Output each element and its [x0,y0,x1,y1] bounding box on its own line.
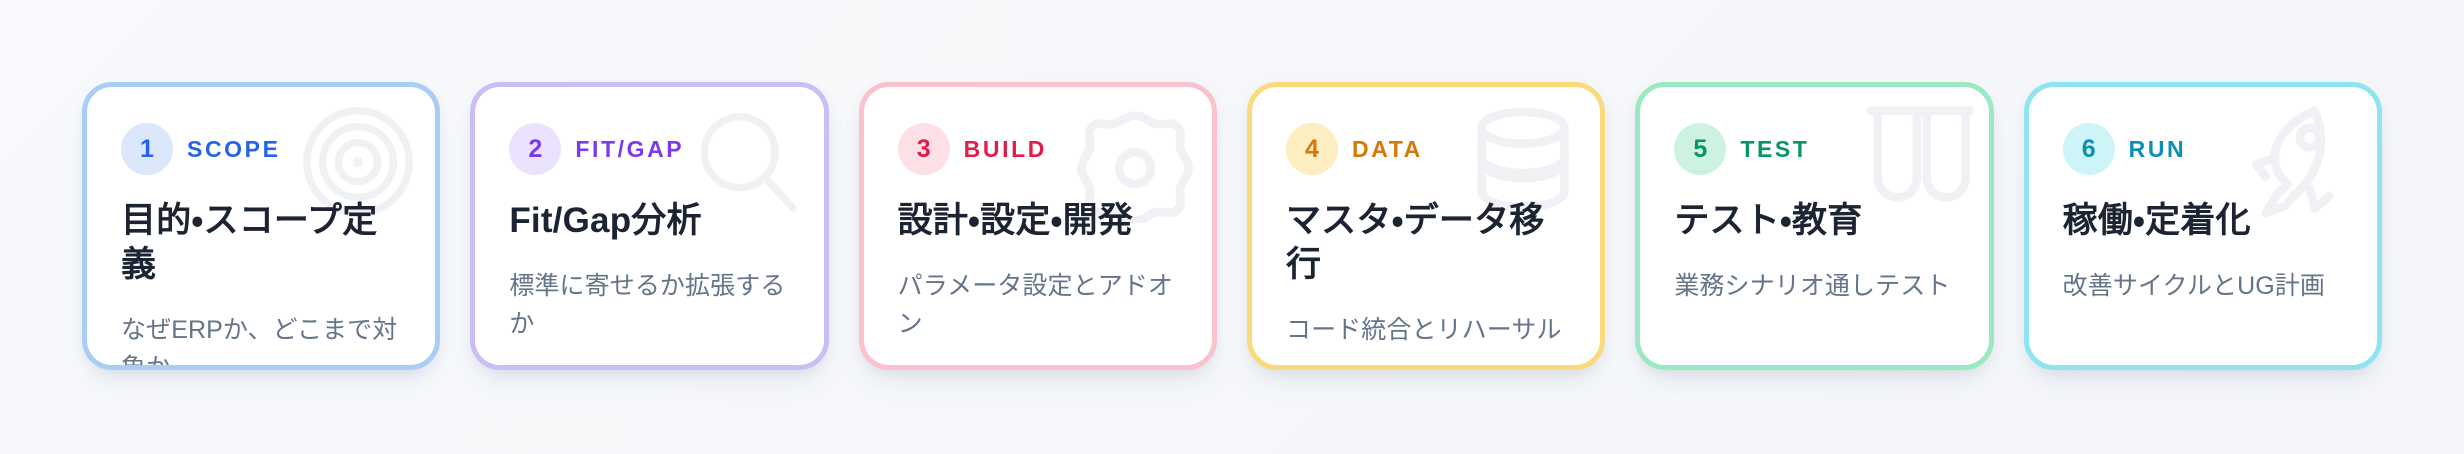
phase-card-test[interactable]: 5 TEST テスト・教育 業務シナリオ通しテスト [1635,82,1993,370]
phase-card-build[interactable]: 3 BUILD 設計・設定・開発 パラメータ設定とアドオン [859,82,1217,370]
phase-card-scope[interactable]: 1 SCOPE 目的・スコープ定義 なぜERPか、どこまで対象か [82,82,440,370]
step-badge: 6 [2063,123,2115,175]
step-tag: FIT/GAP [575,136,684,163]
card-head: 3 BUILD [898,123,1178,175]
card-description: 改善サイクルとUG計画 [2063,267,2343,305]
card-description: 業務シナリオ通しテスト [1674,267,1954,305]
step-badge: 5 [1674,123,1726,175]
step-badge: 2 [509,123,561,175]
card-title: 設計・設定・開発 [898,199,1178,243]
card-head: 4 DATA [1286,123,1566,175]
step-badge: 4 [1286,123,1338,175]
card-head: 5 TEST [1674,123,1954,175]
card-description: なぜERPか、どこまで対象か [121,311,401,370]
phase-card-data[interactable]: 4 DATA マスタ・データ移行 コード統合とリハーサル [1247,82,1605,370]
card-title: 目的・スコープ定義 [121,199,401,287]
step-tag: DATA [1352,136,1423,163]
step-tag: BUILD [964,136,1047,163]
phase-card-fitgap[interactable]: 2 FIT/GAP Fit/Gap分析 標準に寄せるか拡張するか [470,82,828,370]
card-head: 2 FIT/GAP [509,123,789,175]
step-badge: 1 [121,123,173,175]
step-badge: 3 [898,123,950,175]
card-title: マスタ・データ移行 [1286,199,1566,287]
card-title: Fit/Gap分析 [509,199,789,243]
card-head: 6 RUN [2063,123,2343,175]
step-tag: SCOPE [187,136,281,163]
phase-card-run[interactable]: 6 RUN 稼働・定着化 改善サイクルとUG計画 [2024,82,2382,370]
card-description: コード統合とリハーサル [1286,311,1566,349]
card-description: 標準に寄せるか拡張するか [509,267,789,343]
step-tag: RUN [2129,136,2187,163]
phase-card-board: 1 SCOPE 目的・スコープ定義 なぜERPか、どこまで対象か 2 FIT/G… [0,0,2464,454]
card-title: 稼働・定着化 [2063,199,2343,243]
step-tag: TEST [1740,136,1809,163]
card-head: 1 SCOPE [121,123,401,175]
card-title: テスト・教育 [1674,199,1954,243]
card-description: パラメータ設定とアドオン [898,267,1178,343]
